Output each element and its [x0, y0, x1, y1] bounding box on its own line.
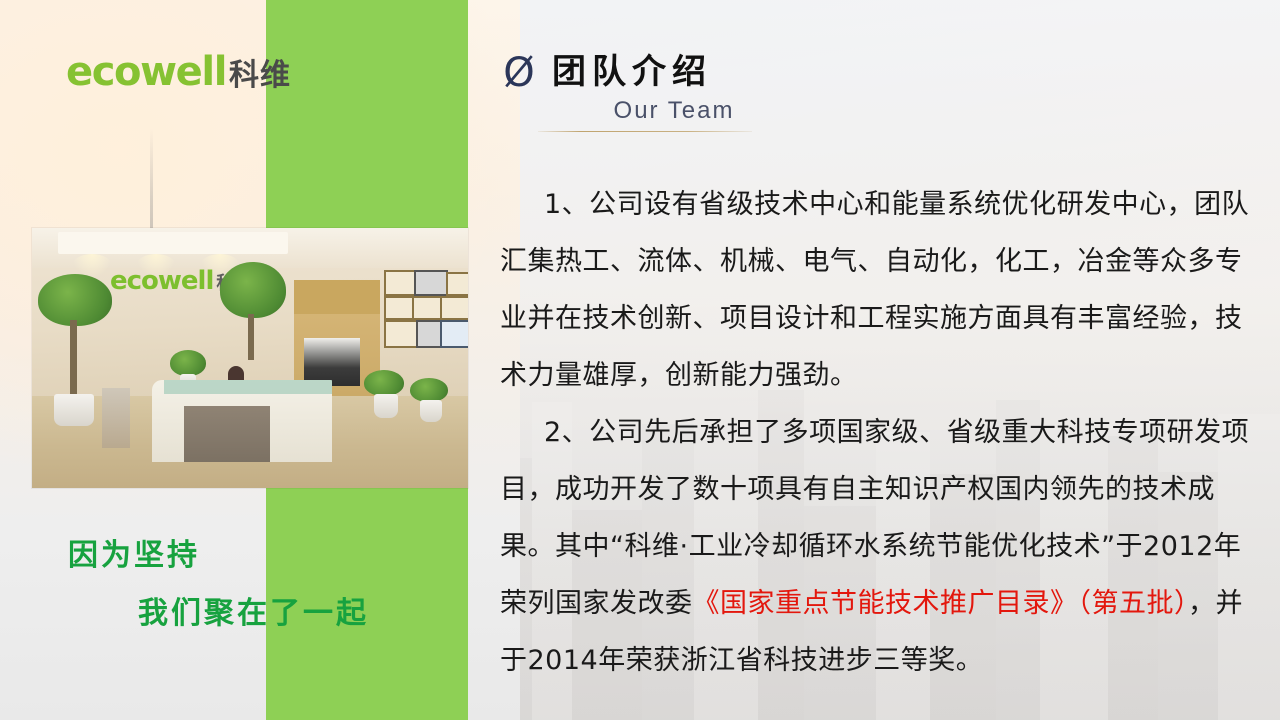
slide-team-introduction: ecowell 科维 ecowell 科维 — [0, 0, 1280, 720]
slogan-line-2: 我们聚在了一起 — [138, 596, 369, 632]
photo-wall-logo-wordmark: ecowell — [110, 268, 213, 294]
paragraph-1: 1、公司设有省级技术中心和能量系统优化研发中心，团队汇集热工、流体、机械、电气、… — [500, 176, 1250, 404]
company-logo: ecowell 科维 — [66, 52, 291, 92]
logo-chinese-name: 科维 — [229, 61, 291, 91]
logo-wordmark: ecowell — [66, 52, 226, 92]
page-subtitle: Our Team — [502, 97, 832, 125]
section-heading: Ø 团队介绍 Our Team — [502, 54, 832, 132]
paragraph-2: 2、公司先后承担了多项国家级、省级重大科技专项研发项目，成功开发了数十项具有自主… — [500, 404, 1250, 689]
page-title: 团队介绍 — [552, 54, 712, 91]
office-reception-photo: ecowell 科维 — [32, 228, 468, 488]
slogan-line-1: 因为坚持 — [68, 538, 200, 574]
body-copy: 1、公司设有省级技术中心和能量系统优化研发中心，团队汇集热工、流体、机械、电气、… — [500, 176, 1250, 689]
photo-certificate-wall — [384, 270, 466, 376]
slogan-block: 因为坚持 我们聚在了一起 — [0, 538, 468, 668]
slashed-circle-icon: Ø — [502, 56, 536, 90]
paragraph-1-text: 1、公司设有省级技术中心和能量系统优化研发中心，团队汇集热工、流体、机械、电气、… — [500, 189, 1249, 391]
heading-underline — [538, 131, 752, 132]
paragraph-2-highlight: 《国家重点节能技术推广目录》（第五批） — [693, 588, 1189, 619]
